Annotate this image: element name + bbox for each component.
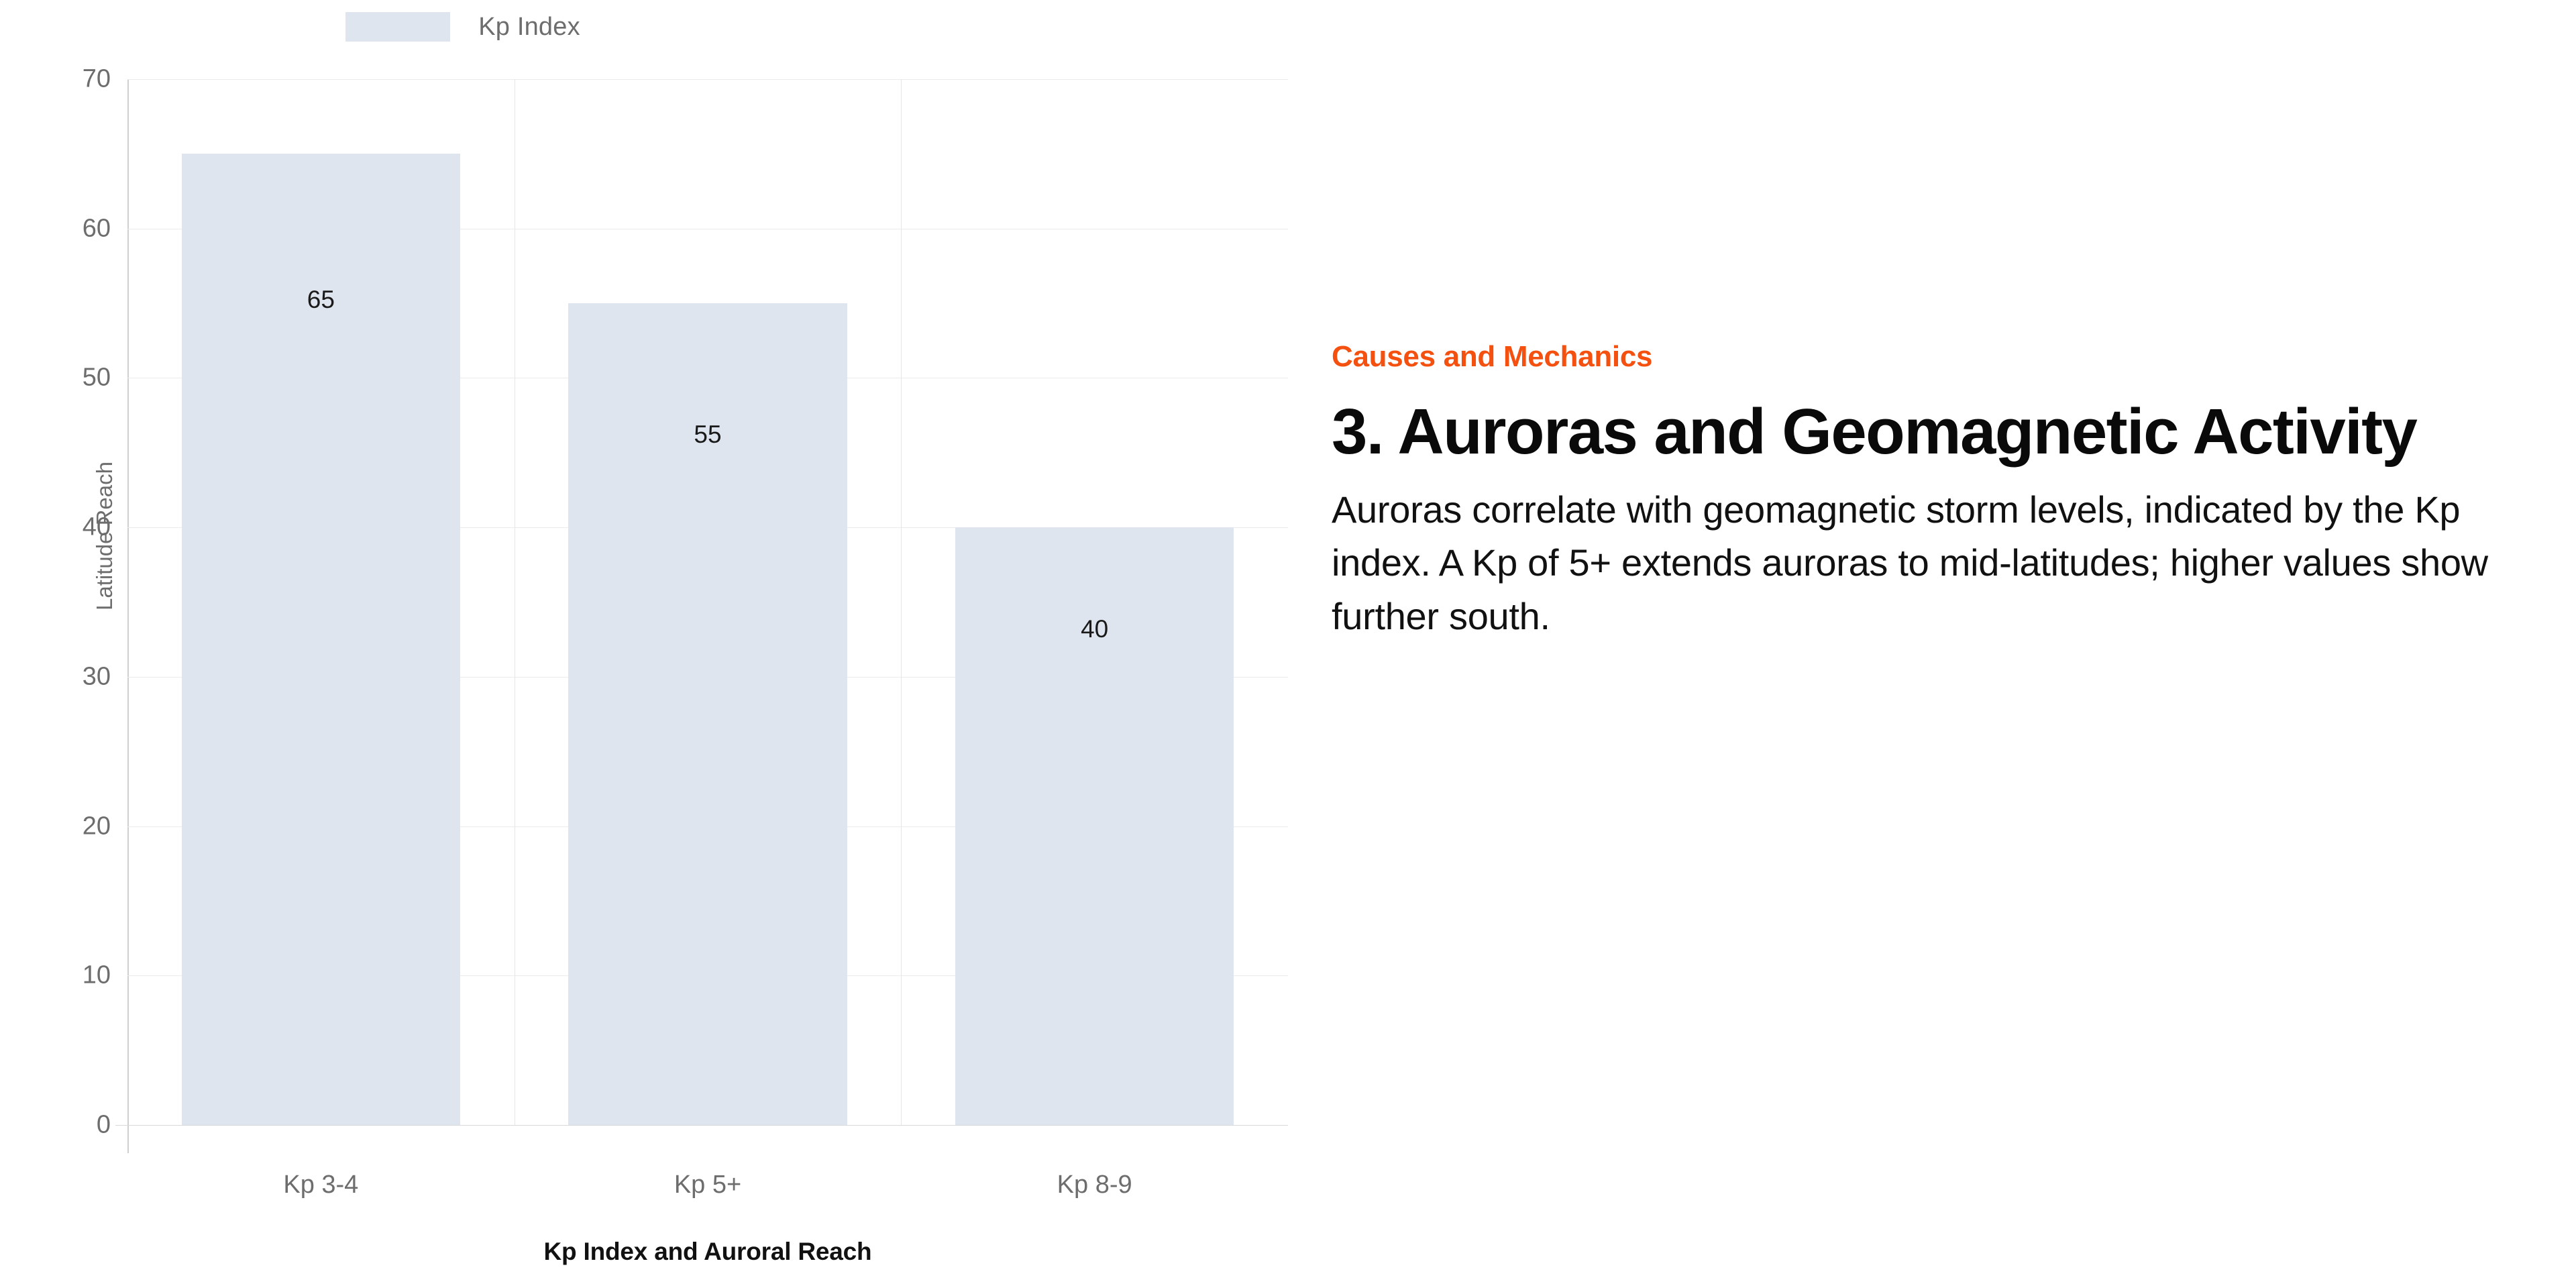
y-axis-tick-label: 10 — [83, 961, 111, 990]
x-axis-title: Kp Index and Auroral Reach — [127, 1238, 1288, 1266]
y-axis-tick-label: 70 — [83, 65, 111, 94]
gridline-y — [127, 79, 1288, 80]
gridline-x — [515, 79, 515, 1125]
bar-value-label: 40 — [1081, 615, 1108, 643]
y-axis-tick-label: 60 — [83, 214, 111, 243]
gridline-x — [901, 79, 902, 1125]
x-axis-tick-label: Kp 8-9 — [1057, 1171, 1132, 1199]
bar-value-label: 55 — [694, 421, 721, 449]
y-axis-tick-label: 20 — [83, 812, 111, 841]
y-axis-line — [127, 79, 129, 1153]
x-axis-tick-label: Kp 3-4 — [283, 1171, 358, 1199]
legend-swatch-icon — [345, 12, 450, 42]
page-root: Kp Index 010203040506070 Latitude Reach … — [0, 0, 2576, 1288]
legend-item-kp-index[interactable]: Kp Index — [345, 12, 580, 42]
bar-chart-panel: Kp Index 010203040506070 Latitude Reach … — [0, 0, 1315, 1288]
article-panel: Causes and Mechanics 3. Auroras and Geom… — [1315, 0, 2576, 1288]
article-headline: 3. Auroras and Geomagnetic Activity — [1332, 396, 2472, 468]
y-axis-tick-label: 50 — [83, 364, 111, 392]
chart-legend: Kp Index — [0, 12, 1315, 42]
y-axis-tick-label: 0 — [97, 1111, 111, 1140]
plot-area: 655540 — [127, 79, 1288, 1125]
x-axis-tick-label: Kp 5+ — [674, 1171, 741, 1199]
article-eyebrow: Causes and Mechanics — [1332, 341, 2509, 373]
y-axis-title: Latitude Reach — [92, 395, 117, 677]
article-body: Auroras correlate with geomagnetic storm… — [1332, 483, 2509, 643]
gridline-y — [115, 1125, 1288, 1126]
bar-value-label: 65 — [307, 286, 335, 314]
legend-label: Kp Index — [478, 13, 580, 42]
article-text-block: Causes and Mechanics 3. Auroras and Geom… — [1332, 341, 2509, 643]
